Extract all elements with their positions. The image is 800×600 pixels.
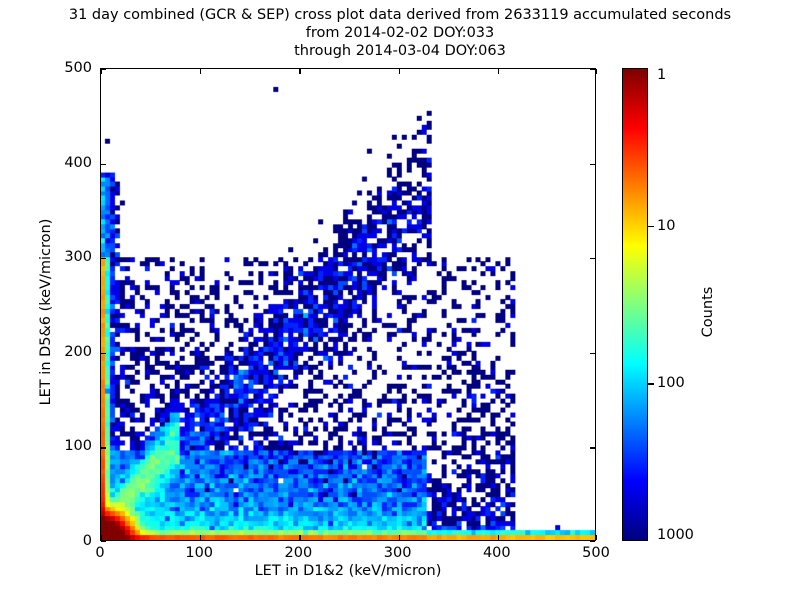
x-tick-label: 500 — [582, 545, 610, 561]
title-line-3: through 2014-03-04 DOY:063 — [0, 42, 800, 60]
x-tick-mark — [399, 535, 400, 540]
colorbar-label: Counts — [700, 212, 716, 412]
y-tick-mark — [590, 164, 595, 165]
colorbar-gradient — [623, 69, 647, 540]
y-tick-mark — [590, 447, 595, 448]
y-tick-mark — [590, 258, 595, 259]
x-tick-label: 300 — [384, 545, 412, 561]
title-line-1: 31 day combined (GCR & SEP) cross plot d… — [0, 6, 800, 24]
colorbar-tick-label: 100 — [657, 375, 685, 391]
y-tick-mark — [101, 541, 106, 542]
x-tick-label: 200 — [285, 545, 313, 561]
x-tick-mark — [498, 535, 499, 540]
x-axis-label: LET in D1&2 (keV/micron) — [100, 563, 596, 579]
x-tick-mark — [200, 535, 201, 540]
y-tick-label: 500 — [32, 60, 92, 76]
x-tick-mark — [299, 69, 300, 74]
y-tick-mark — [101, 447, 106, 448]
x-tick-label: 400 — [483, 545, 511, 561]
x-tick-mark — [200, 69, 201, 74]
y-tick-mark — [590, 541, 595, 542]
y-tick-mark — [101, 258, 106, 259]
colorbar-tick-mark — [648, 383, 654, 384]
chart-title: 31 day combined (GCR & SEP) cross plot d… — [0, 6, 800, 60]
y-tick-mark — [101, 69, 106, 70]
x-tick-mark — [101, 535, 102, 540]
x-tick-mark — [299, 535, 300, 540]
x-tick-mark — [498, 69, 499, 74]
let-cross-plot-heatmap — [101, 69, 595, 540]
plot-area — [100, 68, 596, 541]
y-tick-mark — [101, 353, 106, 354]
x-tick-mark — [596, 69, 597, 74]
colorbar-tick-label: 1 — [657, 67, 666, 83]
y-tick-label: 0 — [32, 533, 92, 549]
y-tick-mark — [590, 69, 595, 70]
x-tick-label: 0 — [95, 545, 104, 561]
x-tick-mark — [399, 69, 400, 74]
x-tick-mark — [596, 535, 597, 540]
colorbar-tick-label: 1000 — [657, 527, 694, 543]
y-tick-mark — [101, 164, 106, 165]
y-tick-mark — [590, 353, 595, 354]
colorbar-tick-mark — [648, 226, 654, 227]
y-axis-label: LET in D5&6 (keV/micron) — [38, 182, 54, 442]
colorbar — [622, 68, 648, 541]
x-tick-label: 100 — [185, 545, 213, 561]
title-line-2: from 2014-02-02 DOY:033 — [0, 24, 800, 42]
colorbar-tick-label: 10 — [657, 218, 675, 234]
y-tick-label: 400 — [32, 155, 92, 171]
